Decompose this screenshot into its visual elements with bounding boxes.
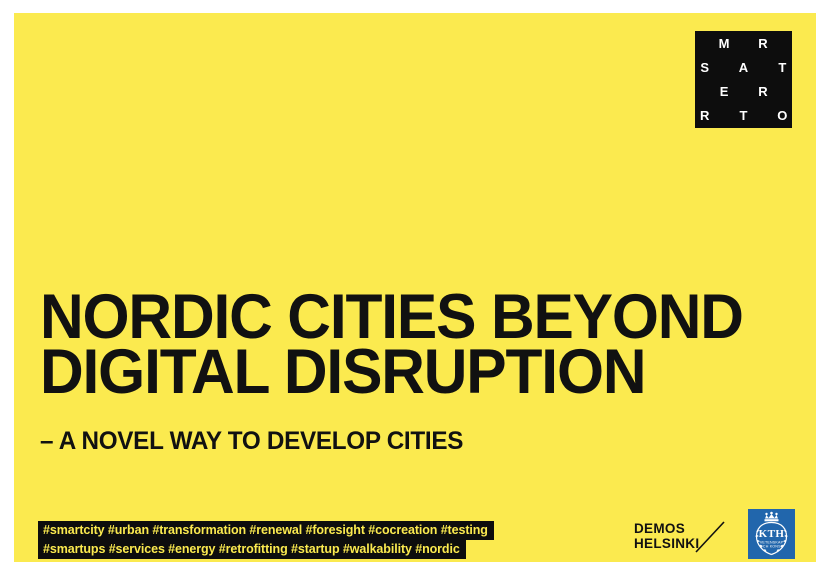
kth-logo: KTH VETENSKAP OCH KONST xyxy=(748,509,795,559)
page-subtitle: – A NOVEL WAY TO DEVELOP CITIES xyxy=(40,427,463,455)
kth-acronym: KTH xyxy=(759,528,785,540)
logo-letter xyxy=(734,31,753,55)
logo-letter xyxy=(734,80,753,104)
diagonal-slash-icon xyxy=(694,520,726,554)
demos-helsinki-wordmark: DEMOS HELSINKI xyxy=(634,521,699,551)
page-title-line-2: DIGITAL DISRUPTION xyxy=(40,345,750,400)
logo-letter xyxy=(695,31,714,55)
logo-letter: T xyxy=(773,55,792,79)
logo-letter: S xyxy=(695,55,714,79)
logo-letter: A xyxy=(734,55,753,79)
logo-letter: R xyxy=(695,104,714,128)
demos-helsinki-line-2: HELSINKI xyxy=(634,536,699,551)
kth-motto-line-2: OCH KONST xyxy=(760,544,784,548)
logo-letter xyxy=(753,104,772,128)
kth-royal-seal-icon: KTH VETENSKAP OCH KONST xyxy=(748,509,795,559)
demos-helsinki-logo: DEMOS HELSINKI xyxy=(634,519,739,559)
logo-letter: M xyxy=(714,31,733,55)
logo-letter xyxy=(714,55,733,79)
demos-helsinki-line-1: DEMOS xyxy=(634,521,699,536)
logo-letter xyxy=(773,31,792,55)
smart-retro-letter-grid: M R S A T E R R T O xyxy=(695,31,792,128)
hashtag-line: #smartups #services #energy #retrofittin… xyxy=(38,540,466,559)
smart-retro-logo: M R S A T E R R T O xyxy=(695,31,792,128)
page-title: NORDIC CITIES BEYOND DIGITAL DISRUPTION xyxy=(40,290,780,400)
logo-letter: E xyxy=(714,80,733,104)
logo-letter: T xyxy=(734,104,753,128)
logo-letter: R xyxy=(753,31,772,55)
logo-letter xyxy=(695,80,714,104)
logo-letter xyxy=(753,55,772,79)
poster-cover: M R S A T E R R T O NORDIC CITIES BEYOND… xyxy=(14,13,816,562)
logo-letter xyxy=(714,104,733,128)
logo-letter: O xyxy=(773,104,792,128)
logo-letter xyxy=(773,80,792,104)
logo-letter: R xyxy=(753,80,772,104)
hashtag-line: #smartcity #urban #transformation #renew… xyxy=(38,521,494,540)
hashtag-block: #smartcity #urban #transformation #renew… xyxy=(38,521,494,559)
